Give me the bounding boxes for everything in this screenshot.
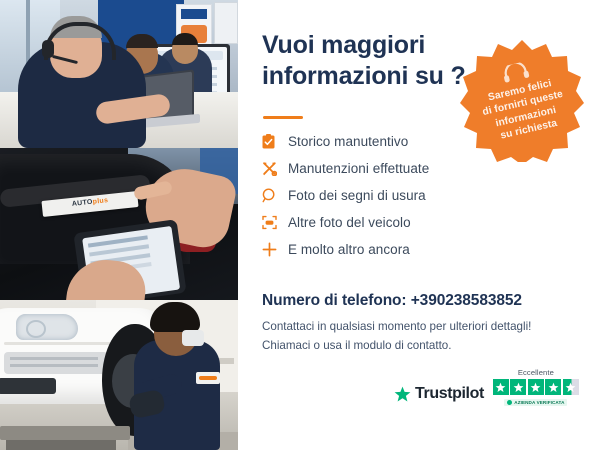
trustpilot-logo: Trustpilot [394, 385, 484, 406]
verified-label: AZIENDA VERIFICATA [514, 400, 564, 405]
list-item: E molto altro ancora [262, 236, 562, 263]
feature-list: Storico manutentivo Manutenzioni effettu… [262, 128, 562, 263]
list-item: Foto dei segni di usura [262, 182, 562, 209]
star-1 [493, 379, 509, 395]
trustpilot-star-icon [394, 386, 411, 403]
trustpilot-rating: Eccellente [493, 368, 579, 406]
tools-cross-icon [262, 161, 288, 176]
phone-line: Numero di telefono: +390238583852 [262, 292, 522, 310]
star-3 [528, 379, 544, 395]
trustpilot-widget[interactable]: Trustpilot Eccellente [394, 368, 579, 406]
list-item-label: Manutenzioni effettuate [288, 161, 429, 176]
vehicle-inspection-photo: AUTOplus [0, 148, 238, 300]
list-item: Storico manutentivo [262, 128, 562, 155]
contact-note: Contattaci in qualsiasi momento per ulte… [262, 318, 562, 356]
star-rating [493, 379, 579, 395]
verified-badge: AZIENDA VERIFICATA [504, 399, 567, 406]
list-item: Altre foto del veicolo [262, 209, 562, 236]
photo-strip: AUTOplus [0, 0, 238, 450]
clipboard-check-icon [262, 134, 288, 149]
magnifier-icon [262, 188, 288, 203]
star-4 [545, 379, 561, 395]
list-item-label: Storico manutentivo [288, 134, 408, 149]
contact-note-line-1: Contattaci in qualsiasi momento per ulte… [262, 318, 562, 337]
trustpilot-wordmark: Trustpilot [415, 385, 484, 403]
advertisement-card: AUTOplus Vuoi maggiori informazioni [0, 0, 600, 450]
workshop-lift-photo [0, 300, 238, 450]
contact-note-line-2: Chiamaci o usa il modulo di contatto. [262, 337, 562, 356]
photo-scan-icon [262, 215, 288, 230]
verified-check-icon [507, 400, 512, 405]
headset-icon [501, 61, 530, 83]
list-item-label: E molto altro ancora [288, 242, 410, 257]
phone-label: Numero di telefono: [262, 292, 407, 309]
star-5 [563, 379, 579, 395]
star-2 [510, 379, 526, 395]
list-item-label: Altre foto del veicolo [288, 215, 411, 230]
list-item: Manutenzioni effettuate [262, 155, 562, 182]
title-underline [263, 116, 303, 119]
info-panel: Vuoi maggiori informazioni su ? Saremo f… [238, 0, 600, 450]
plus-icon [262, 242, 288, 257]
call-center-photo [0, 0, 238, 148]
phone-number[interactable]: +390238583852 [411, 292, 522, 309]
list-item-label: Foto dei segni di usura [288, 188, 426, 203]
rating-label: Eccellente [518, 368, 554, 377]
